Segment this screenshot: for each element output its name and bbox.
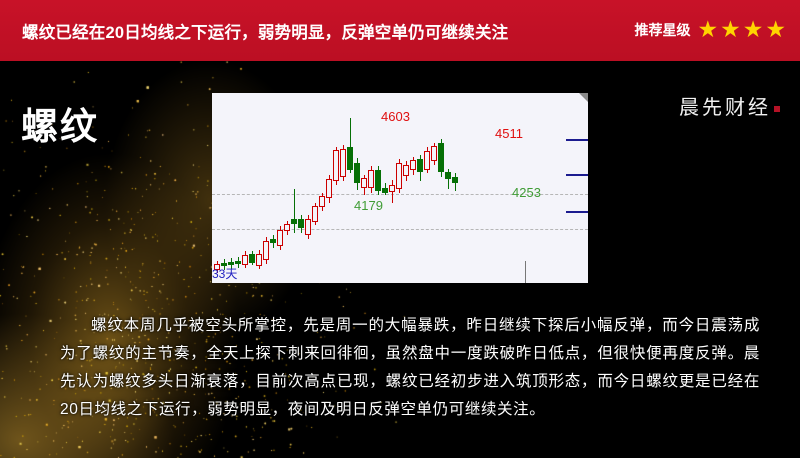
chart-axis-tick [566, 174, 588, 176]
candlestick-body [424, 151, 430, 170]
candlestick-body [438, 143, 444, 172]
candlestick-body [256, 254, 262, 266]
candlestick [452, 93, 458, 283]
candlestick [417, 93, 423, 283]
candlestick [438, 93, 444, 283]
candlestick-body [298, 219, 304, 228]
candlestick [242, 93, 248, 283]
chart-axis-tick [566, 139, 588, 141]
star-icon: ★ [698, 18, 719, 41]
candlestick-body [368, 170, 374, 188]
candlestick [368, 93, 374, 283]
candlestick-body [389, 185, 395, 192]
candlestick-body [249, 254, 255, 263]
candlestick-body [277, 230, 283, 246]
candlestick [228, 93, 234, 283]
candlestick-body [452, 177, 458, 183]
analysis-paragraph: 螺纹本周几乎被空头所掌控，先是周一的大幅暴跌，昨日继续下探后小幅反弹，而今日震荡… [60, 312, 760, 424]
headline-bar: 螺纹已经在20日均线之下运行，弱势明显，反弹空单仍可继续关注 推荐星级 ★★★★ [0, 0, 800, 61]
chart-cursor-line [525, 261, 526, 283]
candlestick [333, 93, 339, 283]
candlestick-body [263, 241, 269, 260]
candlestick-body [284, 224, 290, 231]
candlestick-body [312, 206, 318, 222]
analysis-paragraph-container: 螺纹本周几乎被空头所掌控，先是周一的大幅暴跌，昨日继续下探后小幅反弹，而今日震荡… [60, 312, 760, 424]
candlestick-body [270, 239, 276, 243]
chart-annotation-4253: 4253 [512, 185, 541, 200]
poster-canvas: 螺纹已经在20日均线之下运行，弱势明显，反弹空单仍可继续关注 推荐星级 ★★★★… [0, 0, 800, 458]
candlestick-body [305, 219, 311, 235]
candlestick [445, 93, 451, 283]
rating-label: 推荐星级 [635, 20, 691, 40]
candlestick [249, 93, 255, 283]
candlestick-body [242, 255, 248, 265]
candlestick-body [431, 146, 437, 161]
chart-day-label: 33天 [212, 265, 237, 282]
candlestick [424, 93, 430, 283]
chart-annotation-4179: 4179 [354, 198, 383, 213]
candlestick-body [319, 196, 325, 207]
candlestick-body [347, 147, 353, 170]
star-icon: ★ [743, 18, 764, 41]
candlestick [263, 93, 269, 283]
chart-axis-tick [566, 211, 588, 213]
candlestick-body [340, 149, 346, 177]
candlestick [284, 93, 290, 283]
candlestick [312, 93, 318, 283]
candlestick-body [333, 150, 339, 181]
candlestick-body [291, 219, 297, 224]
candlestick [214, 93, 220, 283]
candlestick [270, 93, 276, 283]
candlestick [256, 93, 262, 283]
brand-dot-icon [774, 106, 780, 112]
candlestick [326, 93, 332, 283]
candlestick [277, 93, 283, 283]
candlestick-body [403, 165, 409, 176]
candlestick-body [326, 179, 332, 198]
candlestick [305, 93, 311, 283]
candlestick [340, 93, 346, 283]
candlestick-body [361, 178, 367, 188]
candlestick [361, 93, 367, 283]
candlestick-wick [294, 189, 295, 233]
candlestick-body [396, 163, 402, 189]
candlestick-body [235, 261, 241, 264]
candlestick-body [354, 163, 360, 183]
candlestick [221, 93, 227, 283]
rating-group: 推荐星级 ★★★★ [635, 18, 787, 41]
candlestick-body [417, 159, 423, 172]
page-title: 螺纹 [21, 96, 99, 150]
chart-corner-fold-icon [579, 93, 588, 102]
candlestick [431, 93, 437, 283]
star-rating: ★★★★ [698, 18, 787, 41]
brand-name: 晨先财经 [679, 91, 771, 120]
candlestick [410, 93, 416, 283]
candlestick-body [375, 170, 381, 191]
candlestick-body [410, 160, 416, 170]
chart-annotation-4511: 4511 [495, 126, 523, 141]
brand-logo: 晨先财经 [679, 91, 780, 120]
candlestick-body [382, 188, 388, 193]
star-icon: ★ [765, 18, 786, 41]
candlestick [235, 93, 241, 283]
candlestick [298, 93, 304, 283]
candlestick [319, 93, 325, 283]
candlestick-body [445, 172, 451, 179]
star-icon: ★ [720, 18, 741, 41]
candlestick-chart[interactable]: 4603451141794253 33天 [212, 93, 588, 283]
candlestick [291, 93, 297, 283]
headline-text: 螺纹已经在20日均线之下运行，弱势明显，反弹空单仍可继续关注 [22, 19, 508, 43]
candlestick [354, 93, 360, 283]
chart-annotation-4603: 4603 [381, 109, 410, 124]
candlestick [347, 93, 353, 283]
